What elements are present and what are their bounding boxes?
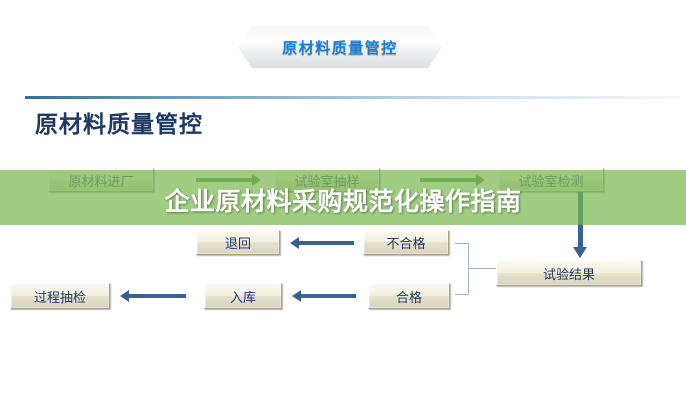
flow-node-process-inspection: 过程抽检 bbox=[10, 283, 110, 309]
flow-node-unqualified: 不合格 bbox=[363, 230, 449, 255]
arrow-unqualified-to-return bbox=[298, 241, 354, 245]
flow-node-label: 试验结果 bbox=[543, 264, 595, 283]
arrow-qualified-to-warehousing bbox=[300, 294, 356, 298]
overlay-headline: 企业原材料采购规范化操作指南 bbox=[0, 182, 686, 218]
flow-node-label: 入库 bbox=[230, 287, 256, 306]
flow-node-label: 不合格 bbox=[386, 233, 425, 252]
flow-node-label: 退回 bbox=[225, 233, 251, 252]
flow-node-label: 合格 bbox=[396, 287, 422, 306]
brace-connector bbox=[455, 243, 497, 295]
flow-node-warehousing: 入库 bbox=[204, 283, 282, 309]
flow-node-label: 过程抽检 bbox=[34, 287, 86, 306]
flow-node-qualified: 合格 bbox=[368, 283, 450, 309]
arrow-warehousing-to-process-inspection bbox=[128, 294, 186, 298]
flow-node-test-result: 试验结果 bbox=[496, 260, 642, 286]
flow-node-return: 退回 bbox=[196, 230, 280, 255]
